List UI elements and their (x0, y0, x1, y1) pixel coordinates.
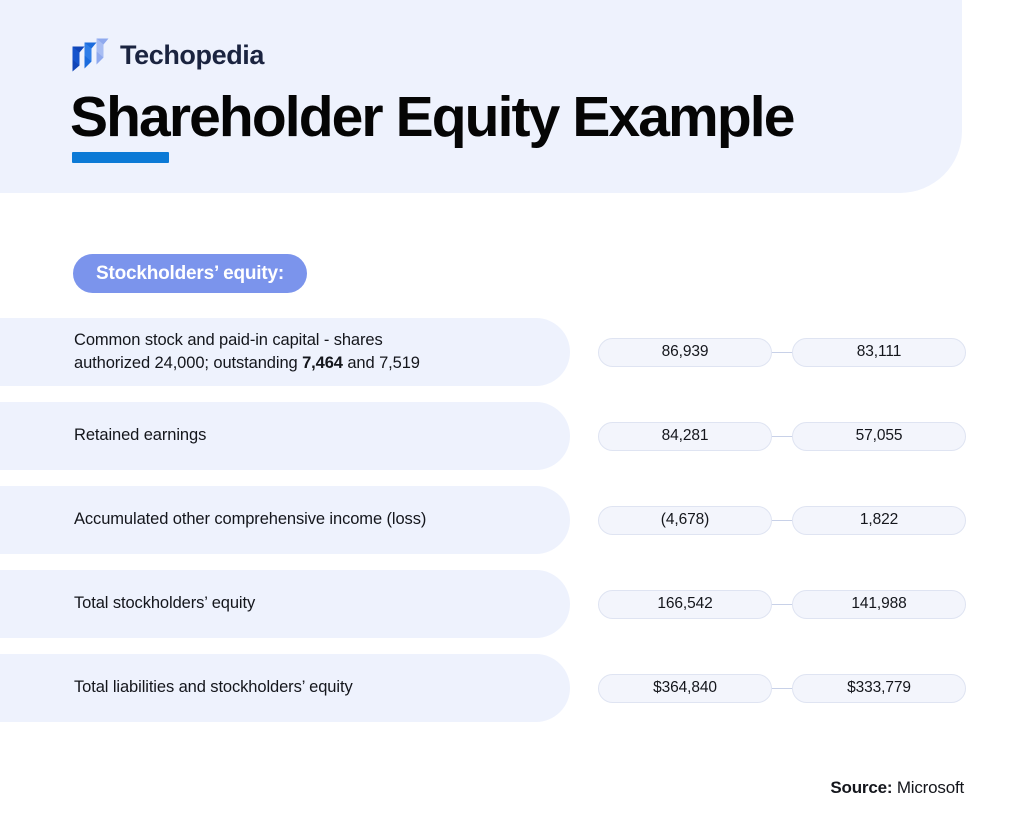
row-label: Accumulated other comprehensive income (… (0, 508, 444, 531)
row-values: 84,281 57,055 (598, 402, 966, 470)
row-label: Total liabilities and stockholders’ equi… (0, 676, 371, 699)
value-connector (772, 436, 792, 437)
row-label: Retained earnings (0, 424, 224, 447)
value-pill-prior: 57,055 (792, 422, 966, 451)
row-label-band: Accumulated other comprehensive income (… (0, 486, 570, 554)
table-row: Total liabilities and stockholders’ equi… (0, 654, 1024, 722)
value-pill-current: 84,281 (598, 422, 772, 451)
value-connector (772, 688, 792, 689)
equity-table: Common stock and paid-in capital - share… (0, 318, 1024, 738)
row-label: Total stockholders’ equity (0, 592, 273, 615)
value-pill-prior: 1,822 (792, 506, 966, 535)
page-title: Shareholder Equity Example (70, 86, 794, 150)
table-row: Accumulated other comprehensive income (… (0, 486, 1024, 554)
row-label: Common stock and paid-in capital - share… (0, 329, 438, 376)
brand-name: Techopedia (120, 42, 264, 69)
source-note-lead: Source: (830, 778, 892, 797)
value-pill-prior: 141,988 (792, 590, 966, 619)
row-label-band: Retained earnings (0, 402, 570, 470)
row-label-band: Common stock and paid-in capital - share… (0, 318, 570, 386)
value-pill-current: $364,840 (598, 674, 772, 703)
table-row: Retained earnings 84,281 57,055 (0, 402, 1024, 470)
source-note: Source: Microsoft (830, 778, 964, 798)
source-note-value: Microsoft (892, 778, 964, 797)
row-label-band: Total stockholders’ equity (0, 570, 570, 638)
value-pill-current: 166,542 (598, 590, 772, 619)
row-values: (4,678) 1,822 (598, 486, 966, 554)
table-row: Total stockholders’ equity 166,542 141,9… (0, 570, 1024, 638)
value-pill-current: (4,678) (598, 506, 772, 535)
techopedia-cubes-logo-icon (72, 38, 109, 72)
section-heading-pill: Stockholders’ equity: (73, 254, 307, 293)
row-values: 86,939 83,111 (598, 318, 966, 386)
value-pill-prior: 83,111 (792, 338, 966, 367)
value-pill-current: 86,939 (598, 338, 772, 367)
infographic-page: Techopedia Shareholder Equity Example St… (0, 0, 1024, 839)
value-connector (772, 604, 792, 605)
brand-lockup: Techopedia (72, 38, 264, 72)
header-panel: Techopedia Shareholder Equity Example (0, 0, 962, 193)
table-row: Common stock and paid-in capital - share… (0, 318, 1024, 386)
row-label-band: Total liabilities and stockholders’ equi… (0, 654, 570, 722)
row-values: $364,840 $333,779 (598, 654, 966, 722)
value-pill-prior: $333,779 (792, 674, 966, 703)
row-values: 166,542 141,988 (598, 570, 966, 638)
section-heading-label: Stockholders’ equity: (96, 263, 284, 285)
title-accent-rule (72, 152, 169, 163)
value-connector (772, 352, 792, 353)
value-connector (772, 520, 792, 521)
